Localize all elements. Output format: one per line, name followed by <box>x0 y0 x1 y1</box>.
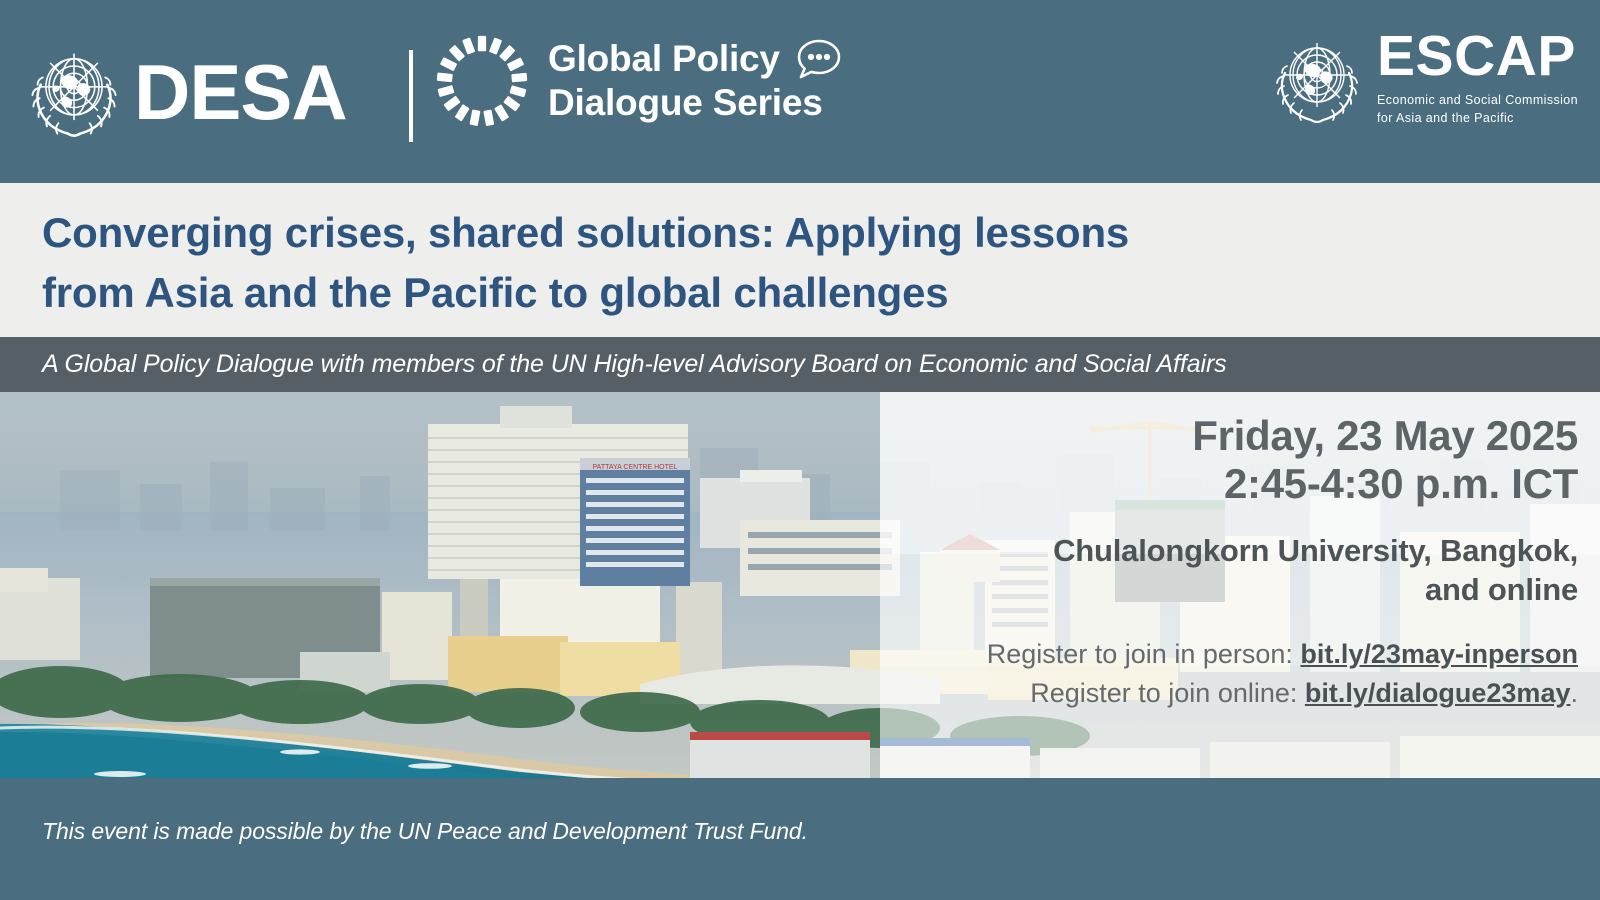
header-bar: DESA <box>0 0 1600 183</box>
hotel-sign-text: PATTAYA CENTRE HOTEL <box>593 464 678 471</box>
sdg-wheel-icon <box>434 33 530 129</box>
page-title: Converging crises, shared solutions: App… <box>42 203 1129 322</box>
subtitle-band: A Global Policy Dialogue with members of… <box>0 337 1600 392</box>
register-online-suffix: . <box>1570 678 1578 708</box>
register-online-row: Register to join online: bit.ly/dialogue… <box>880 674 1578 713</box>
global-policy-dialogue-logo: Global Policy Dialogue Series <box>434 33 842 129</box>
speech-bubble-icon <box>796 38 842 80</box>
escap-subtitle-line2: for Asia and the Pacific <box>1377 110 1578 128</box>
un-emblem-icon <box>1267 30 1367 130</box>
desa-logo: DESA <box>22 32 347 152</box>
page-subtitle: A Global Policy Dialogue with members of… <box>42 350 1227 379</box>
event-venue: Chulalongkorn University, Bangkok, and o… <box>880 508 1578 610</box>
event-details-panel: Friday, 23 May 2025 2:45-4:30 p.m. ICT C… <box>880 392 1600 778</box>
footer-bar: This event is made possible by the UN Pe… <box>0 778 1600 900</box>
gpd-line1-label: Global Policy <box>548 37 780 81</box>
escap-subtitle-line1: Economic and Social Commission <box>1377 92 1578 110</box>
escap-wordmark: ESCAP <box>1377 28 1578 85</box>
gpd-wordmark: Global Policy Dialogue Series <box>548 37 842 124</box>
event-time: 2:45-4:30 p.m. ICT <box>880 460 1578 508</box>
gpd-line2-label: Dialogue Series <box>548 81 842 125</box>
escap-text-block: ESCAP Economic and Social Commission for… <box>1377 28 1578 128</box>
event-date: Friday, 23 May 2025 <box>880 412 1578 460</box>
logo-divider <box>409 50 413 142</box>
title-band: Converging crises, shared solutions: App… <box>0 183 1600 337</box>
register-online-label: Register to join online: <box>1030 678 1305 708</box>
venue-line-2: and online <box>880 571 1578 610</box>
venue-line-1: Chulalongkorn University, Bangkok, <box>880 532 1578 571</box>
escap-logo: ESCAP Economic and Social Commission for… <box>1267 28 1578 130</box>
register-online-link[interactable]: bit.ly/dialogue23may <box>1305 678 1571 708</box>
funding-note: This event is made possible by the UN Pe… <box>42 818 808 845</box>
register-inperson-label: Register to join in person: <box>987 639 1301 669</box>
event-banner: DESA <box>0 0 1600 900</box>
un-emblem-icon <box>22 40 126 144</box>
event-datetime: Friday, 23 May 2025 2:45-4:30 p.m. ICT <box>880 392 1578 508</box>
desa-wordmark: DESA <box>134 53 347 131</box>
register-inperson-row: Register to join in person: bit.ly/23may… <box>880 635 1578 674</box>
register-inperson-link[interactable]: bit.ly/23may-inperson <box>1300 639 1578 669</box>
registration-block: Register to join in person: bit.ly/23may… <box>880 609 1578 713</box>
